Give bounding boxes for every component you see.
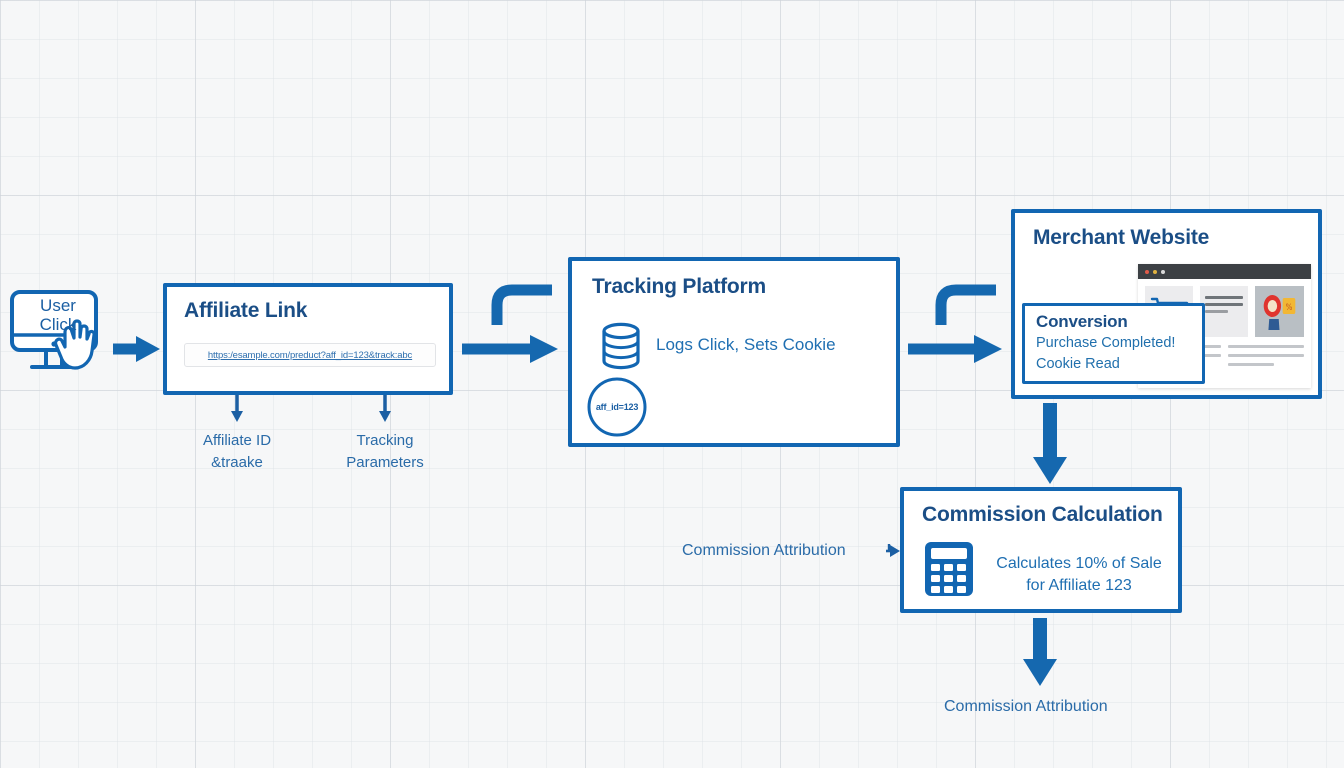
conversion-line2: Cookie Read [1036, 354, 1202, 375]
svg-text:%: % [1286, 301, 1293, 312]
database-cylinder-icon [595, 320, 647, 372]
browser-dot-red [1145, 270, 1149, 274]
affiliate-url-text: https:/esample.com/preduct?aff_id=123&tr… [208, 350, 412, 361]
label-commission-attribution-side: Commission Attribution [682, 542, 846, 560]
label-affiliate-id-line1: Affiliate ID [177, 430, 297, 452]
user-click-node[interactable]: User Click [8, 288, 108, 386]
affiliate-link-card[interactable]: Affiliate Link https:/esample.com/preduc… [163, 283, 453, 395]
commission-calculation-line1: Calculates 10% of Sale [989, 553, 1169, 575]
label-tracking-parameters-line1: Tracking [325, 430, 445, 452]
browser-text-block [1200, 286, 1248, 337]
conversion-title: Conversion [1036, 312, 1202, 332]
label-affiliate-id: Affiliate ID &traake [177, 430, 297, 474]
cookie-value-text: aff_id=123 [596, 402, 638, 412]
arrow-commission-attribution-pointer [886, 544, 900, 557]
arrow-commission-to-attribution [1023, 618, 1057, 686]
arrow-user-click-to-affiliate-link [113, 336, 160, 362]
arrow-tracking-platform-to-merchant-website [908, 290, 1002, 363]
conversion-line1: Purchase Completed! [1036, 333, 1202, 354]
label-affiliate-id-line2: &traake [177, 452, 297, 474]
merchant-website-title: Merchant Website [1033, 226, 1318, 250]
commission-calculation-card[interactable]: Commission Calculation Calculates 10% of… [900, 487, 1182, 613]
browser-dot-yellow [1153, 270, 1157, 274]
calculator-icon [923, 540, 975, 598]
tracking-platform-card[interactable]: Tracking Platform Logs Click, Sets Cooki… [568, 257, 900, 447]
label-tracking-parameters-line2: Parameters [325, 452, 445, 474]
arrow-merchant-to-commission [1033, 403, 1067, 484]
tracking-platform-title: Tracking Platform [592, 275, 896, 299]
commission-calculation-line2: for Affiliate 123 [989, 575, 1169, 597]
arrow-affiliate-link-to-tracking-platform [462, 290, 558, 363]
user-click-line2: Click [30, 315, 86, 334]
tracking-platform-logs-text: Logs Click, Sets Cookie [656, 335, 836, 355]
affiliate-link-title: Affiliate Link [184, 299, 449, 323]
browser-titlebar [1138, 264, 1311, 279]
label-commission-attribution-bottom: Commission Attribution [944, 698, 1108, 716]
conversion-callout[interactable]: Conversion Purchase Completed! Cookie Re… [1022, 303, 1205, 384]
browser-dot-green [1161, 270, 1165, 274]
user-click-line1: User [30, 296, 86, 315]
affiliate-url-field[interactable]: https:/esample.com/preduct?aff_id=123&tr… [184, 343, 436, 367]
commission-calculation-title: Commission Calculation [922, 503, 1178, 527]
commission-calculation-text: Calculates 10% of Sale for Affiliate 123 [989, 553, 1169, 596]
label-tracking-parameters: Tracking Parameters [325, 430, 445, 474]
product-image-icon: % [1255, 286, 1304, 337]
diagram-canvas: User Click Affiliate Link https:/esample… [0, 0, 1344, 768]
